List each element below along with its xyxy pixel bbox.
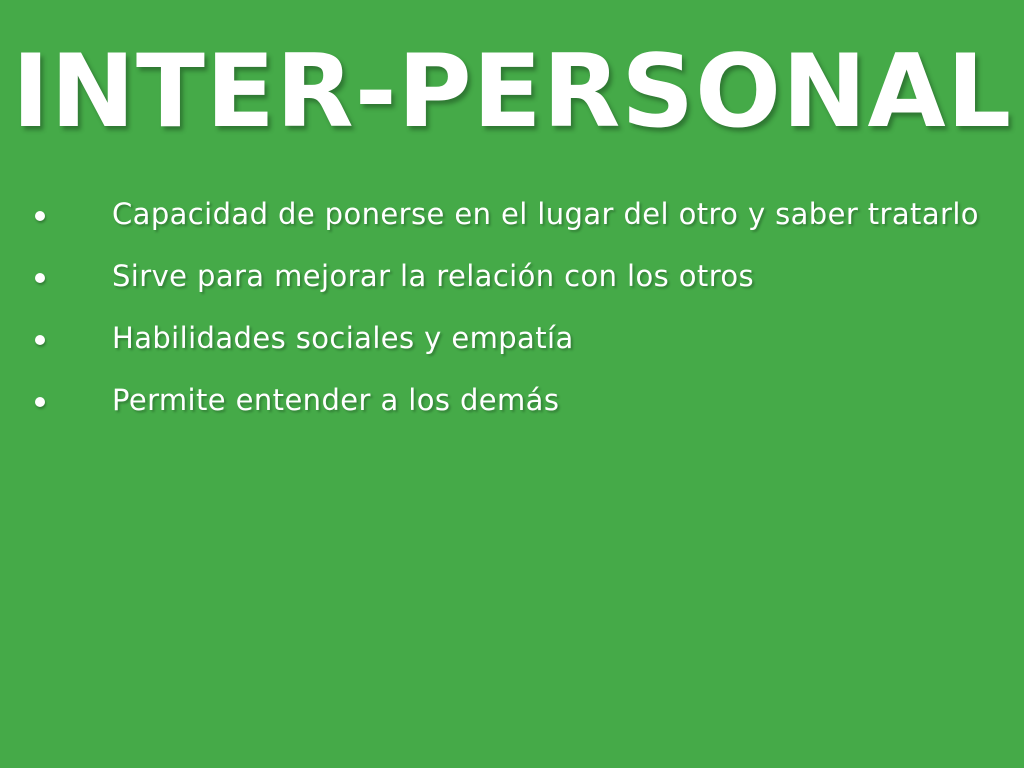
page-title: INTER-PERSONAL xyxy=(0,36,1024,146)
presentation-slide: INTER-PERSONAL Capacidad de ponerse en e… xyxy=(0,0,1024,768)
list-item: Permite entender a los demás xyxy=(0,382,1024,444)
list-item-label: Habilidades sociales y empatía xyxy=(112,320,574,356)
bullet-dot-icon xyxy=(35,273,45,283)
bullet-dot-icon xyxy=(35,397,45,407)
list-item: Habilidades sociales y empatía xyxy=(0,320,1024,382)
list-item-label: Sirve para mejorar la relación con los o… xyxy=(112,258,754,294)
list-item: Capacidad de ponerse en el lugar del otr… xyxy=(0,196,1024,258)
list-item-label: Permite entender a los demás xyxy=(112,382,559,418)
slide-empty-area xyxy=(0,450,1024,768)
bullet-dot-icon xyxy=(35,335,45,345)
list-item: Sirve para mejorar la relación con los o… xyxy=(0,258,1024,320)
list-item-label: Capacidad de ponerse en el lugar del otr… xyxy=(112,196,979,232)
bullet-list: Capacidad de ponerse en el lugar del otr… xyxy=(0,196,1024,444)
bullet-dot-icon xyxy=(35,211,45,221)
